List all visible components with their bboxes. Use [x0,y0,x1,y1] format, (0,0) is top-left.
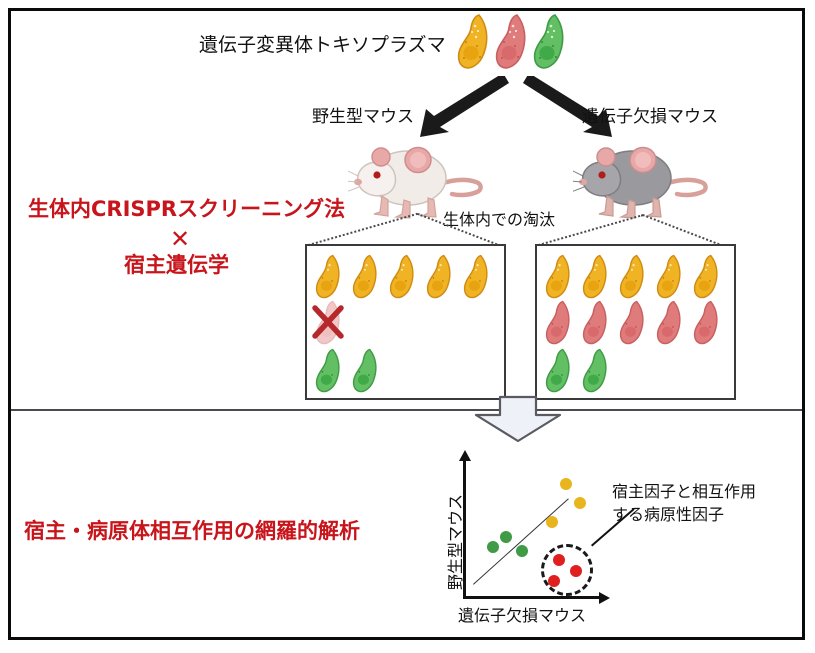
wt-parasite-yellow-3 [387,254,417,300]
highlight-dashed-circle [541,544,593,596]
knockout-mouse-icon [573,126,711,222]
ko-parasite-green-2 [580,348,610,394]
scatter-dot-red-2 [548,575,560,587]
ko-parasite-green-1 [543,348,573,394]
bottom-section-heading: 宿主・病原体相互作用の網羅的解析 [24,518,360,546]
in-vivo-selection-label: 生体内での淘汰 [443,209,555,230]
ko-parasite-yellow-3 [617,254,647,300]
ko-parasite-yellow-4 [654,254,684,300]
scatter-dot-red-3 [570,565,582,577]
ko-parasite-red-4 [654,300,684,346]
toxoplasma-yellow-icon [456,13,490,71]
scatter-dot-green-1 [487,541,499,553]
annotation-label-line2: する病原性因子 [612,504,724,525]
wt-parasite-green-1 [313,348,343,394]
ko-parasite-red-5 [691,300,721,346]
figure-canvas: 遺伝子変異体トキソプラズマ [0,0,815,653]
section-divider [11,409,802,411]
ko-parasite-yellow-1 [543,254,573,300]
method-host-genetics-label: 宿主遺伝学 [124,252,229,280]
ko-parasite-yellow-2 [580,254,610,300]
flow-down-arrow-icon [472,395,564,443]
scatter-dot-yellow-3 [574,497,586,509]
x-axis-arrowhead [598,591,610,605]
scatter-dot-yellow-1 [546,516,558,528]
wt-parasite-yellow-4 [424,254,454,300]
y-axis-label: 野生型マウス [442,494,466,590]
scatter-dot-red-1 [553,554,565,566]
wt-parasite-green-2 [350,348,380,394]
elimination-cross-icon [310,302,346,342]
toxoplasma-green-icon [532,13,566,71]
scatter-plot: 遺伝子欠損マウス 野生型マウス [440,450,660,620]
wildtype-mouse-icon [348,126,486,222]
ko-parasite-red-2 [580,300,610,346]
ko-parasite-yellow-5 [691,254,721,300]
scatter-dot-green-3 [516,545,528,557]
annotation-label-line1: 宿主因子と相互作用 [612,481,756,502]
ko-parasite-red-3 [617,300,647,346]
scatter-dot-yellow-2 [560,478,572,490]
ko-parasite-red-1 [543,300,573,346]
method-crispr-label: 生体内CRISPRスクリーニング法 [28,196,345,224]
wt-parasite-yellow-5 [461,254,491,300]
y-axis-arrowhead [458,450,472,462]
figure-title: 遺伝子変異体トキソプラズマ [199,33,446,58]
wt-parasite-yellow-1 [313,254,343,300]
toxoplasma-red-icon [494,13,528,71]
x-axis [463,596,603,599]
wt-parasite-yellow-2 [350,254,380,300]
scatter-dot-green-2 [500,531,512,543]
method-cross-icon: ✕ [170,224,190,256]
x-axis-label: 遺伝子欠損マウス [458,605,586,626]
